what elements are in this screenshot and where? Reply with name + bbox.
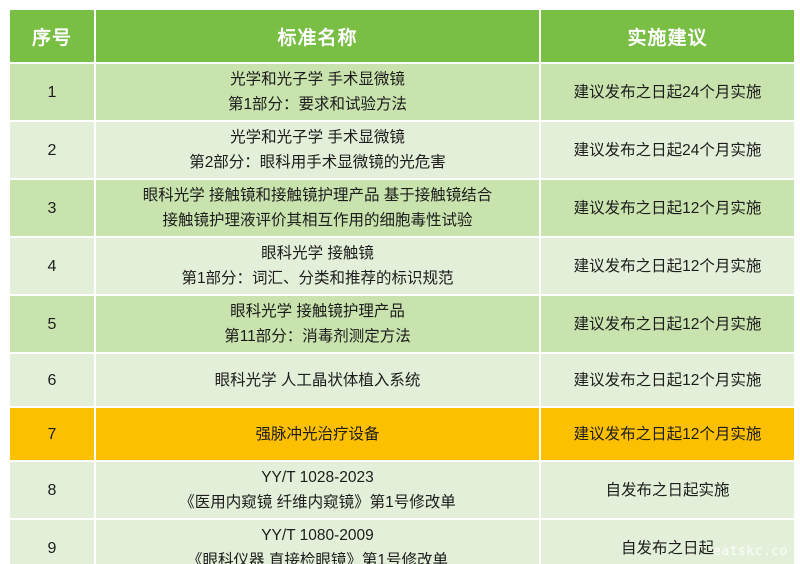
standard-name-line: 《医用内窥镜 纤维内窥镜》第1号修改单: [98, 490, 537, 515]
column-header-seq: 序号: [10, 10, 94, 62]
standard-name-line: 光学和光子学 手术显微镜: [98, 67, 537, 92]
row-sequence-number: 9: [10, 520, 94, 564]
row-implementation-suggestion: 自发布之日起实施: [541, 462, 794, 518]
standard-name-line: 第1部分：词汇、分类和推荐的标识规范: [98, 266, 537, 291]
row-implementation-suggestion: 建议发布之日起12个月实施: [541, 354, 794, 406]
table-page: 序号 标准名称 实施建议 1光学和光子学 手术显微镜第1部分：要求和试验方法建议…: [0, 0, 800, 564]
table-row: 5眼科光学 接触镜护理产品第11部分：消毒剂测定方法建议发布之日起12个月实施: [10, 296, 794, 352]
table-header-row: 序号 标准名称 实施建议: [10, 10, 794, 62]
row-standard-name: YY/T 1028-2023《医用内窥镜 纤维内窥镜》第1号修改单: [96, 462, 539, 518]
row-sequence-number: 2: [10, 122, 94, 178]
standard-name-line: YY/T 1080-2009: [98, 523, 537, 548]
row-sequence-number: 1: [10, 64, 94, 120]
row-standard-name: 光学和光子学 手术显微镜第1部分：要求和试验方法: [96, 64, 539, 120]
row-implementation-suggestion: 建议发布之日起12个月实施: [541, 238, 794, 294]
table-body: 1光学和光子学 手术显微镜第1部分：要求和试验方法建议发布之日起24个月实施2光…: [10, 64, 794, 564]
row-sequence-number: 4: [10, 238, 94, 294]
row-sequence-number: 7: [10, 408, 94, 460]
row-implementation-suggestion: 建议发布之日起24个月实施: [541, 122, 794, 178]
table-row: 3眼科光学 接触镜和接触镜护理产品 基于接触镜结合接触镜护理液评价其相互作用的细…: [10, 180, 794, 236]
standard-name-line: 眼科光学 接触镜: [98, 241, 537, 266]
standard-name-line: 接触镜护理液评价其相互作用的细胞毒性试验: [98, 208, 537, 233]
row-standard-name: YY/T 1080-2009《眼科仪器 直接检眼镜》第1号修改单: [96, 520, 539, 564]
row-sequence-number: 8: [10, 462, 94, 518]
standard-name-line: 第1部分：要求和试验方法: [98, 92, 537, 117]
row-sequence-number: 3: [10, 180, 94, 236]
standard-name-line: 《眼科仪器 直接检眼镜》第1号修改单: [98, 548, 537, 564]
table-row: 8YY/T 1028-2023《医用内窥镜 纤维内窥镜》第1号修改单自发布之日起…: [10, 462, 794, 518]
row-standard-name: 眼科光学 接触镜第1部分：词汇、分类和推荐的标识规范: [96, 238, 539, 294]
standards-table: 序号 标准名称 实施建议 1光学和光子学 手术显微镜第1部分：要求和试验方法建议…: [8, 8, 796, 564]
standard-name-line: YY/T 1028-2023: [98, 465, 537, 490]
standard-name-line: 眼科光学 接触镜和接触镜护理产品 基于接触镜结合: [98, 183, 537, 208]
row-implementation-suggestion: 建议发布之日起12个月实施: [541, 180, 794, 236]
row-implementation-suggestion: 建议发布之日起12个月实施: [541, 408, 794, 460]
column-header-standard-name: 标准名称: [96, 10, 539, 62]
table-row: 1光学和光子学 手术显微镜第1部分：要求和试验方法建议发布之日起24个月实施: [10, 64, 794, 120]
row-standard-name: 强脉冲光治疗设备: [96, 408, 539, 460]
row-standard-name: 眼科光学 接触镜和接触镜护理产品 基于接触镜结合接触镜护理液评价其相互作用的细胞…: [96, 180, 539, 236]
row-standard-name: 眼科光学 接触镜护理产品第11部分：消毒剂测定方法: [96, 296, 539, 352]
table-row: 6眼科光学 人工晶状体植入系统建议发布之日起12个月实施: [10, 354, 794, 406]
table-header: 序号 标准名称 实施建议: [10, 10, 794, 62]
standard-name-line: 强脉冲光治疗设备: [98, 422, 537, 447]
row-implementation-suggestion: 建议发布之日起12个月实施: [541, 296, 794, 352]
standard-name-line: 眼科光学 人工晶状体植入系统: [98, 368, 537, 393]
row-implementation-suggestion: 自发布之日起: [541, 520, 794, 564]
row-standard-name: 眼科光学 人工晶状体植入系统: [96, 354, 539, 406]
standard-name-line: 光学和光子学 手术显微镜: [98, 125, 537, 150]
table-row: 4眼科光学 接触镜第1部分：词汇、分类和推荐的标识规范建议发布之日起12个月实施: [10, 238, 794, 294]
table-row: 2光学和光子学 手术显微镜第2部分：眼科用手术显微镜的光危害建议发布之日起24个…: [10, 122, 794, 178]
table-row: 9YY/T 1080-2009《眼科仪器 直接检眼镜》第1号修改单自发布之日起: [10, 520, 794, 564]
table-row: 7强脉冲光治疗设备建议发布之日起12个月实施: [10, 408, 794, 460]
column-header-suggestion: 实施建议: [541, 10, 794, 62]
row-standard-name: 光学和光子学 手术显微镜第2部分：眼科用手术显微镜的光危害: [96, 122, 539, 178]
row-sequence-number: 6: [10, 354, 94, 406]
standard-name-line: 第2部分：眼科用手术显微镜的光危害: [98, 150, 537, 175]
row-implementation-suggestion: 建议发布之日起24个月实施: [541, 64, 794, 120]
row-sequence-number: 5: [10, 296, 94, 352]
standard-name-line: 眼科光学 接触镜护理产品: [98, 299, 537, 324]
standard-name-line: 第11部分：消毒剂测定方法: [98, 324, 537, 349]
